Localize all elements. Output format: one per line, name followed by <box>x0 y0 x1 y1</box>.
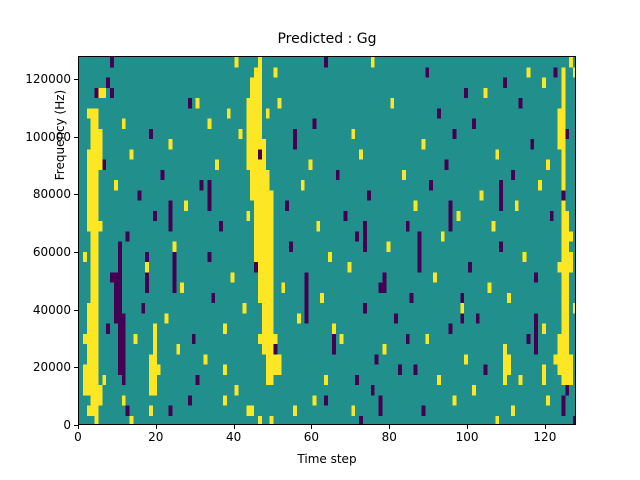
y-tick-label: 0 <box>7 419 71 431</box>
x-tick-mark <box>78 425 79 429</box>
x-tick-label: 100 <box>437 431 497 443</box>
x-tick-label: 20 <box>126 431 186 443</box>
y-tick-mark <box>74 137 78 138</box>
x-tick-label: 0 <box>48 431 108 443</box>
heatmap-plot-area[interactable] <box>78 56 576 425</box>
x-tick-label: 60 <box>281 431 341 443</box>
y-tick-label: 60000 <box>7 246 71 258</box>
matplotlib-figure: Predicted : Gg 0200004000060000800001000… <box>0 0 640 480</box>
y-axis-label: Frequency (Hz) <box>53 23 67 247</box>
chart-title: Predicted : Gg <box>78 30 576 48</box>
x-tick-mark <box>156 425 157 429</box>
y-tick-mark <box>74 79 78 80</box>
x-tick-mark <box>311 425 312 429</box>
y-tick-mark <box>74 367 78 368</box>
x-tick-mark <box>545 425 546 429</box>
x-tick-label: 120 <box>515 431 575 443</box>
y-tick-mark <box>74 310 78 311</box>
x-tick-mark <box>234 425 235 429</box>
x-tick-mark <box>467 425 468 429</box>
x-axis-label: Time step <box>78 452 576 466</box>
y-tick-mark <box>74 252 78 253</box>
x-tick-label: 80 <box>359 431 419 443</box>
heatmap-canvas <box>79 57 576 425</box>
x-tick-label: 40 <box>204 431 264 443</box>
x-tick-mark <box>389 425 390 429</box>
y-tick-label: 40000 <box>7 304 71 316</box>
y-tick-mark <box>74 194 78 195</box>
y-tick-label: 20000 <box>7 361 71 373</box>
